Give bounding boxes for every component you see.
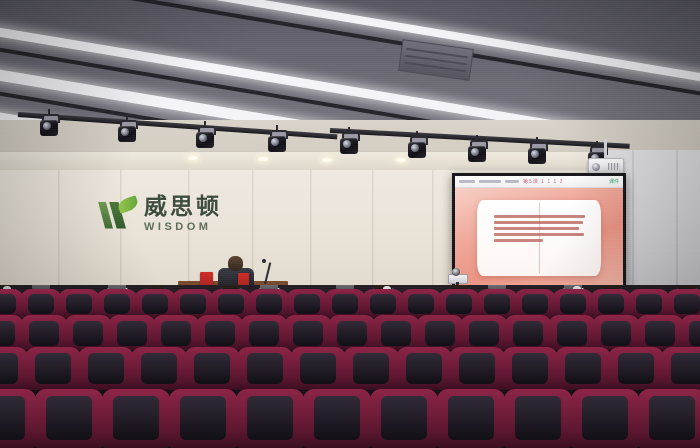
moving-head-light-icon: [468, 140, 486, 164]
moving-head-light-icon: [528, 142, 546, 166]
auditorium-seat: [332, 318, 372, 350]
auditorium-seat: [612, 350, 660, 390]
auditorium-seat: [294, 350, 342, 390]
auditorium-seat: [200, 318, 240, 350]
presenter-head: [228, 256, 243, 271]
slide-body: [455, 188, 623, 288]
auditorium-seat: [288, 318, 328, 350]
slide-toolbar: 第5课 1 1 1 2 课件: [455, 176, 623, 188]
recessed-downlight: [396, 158, 406, 162]
auditorium-seat: [559, 350, 607, 390]
auditorium-seat: [173, 392, 233, 448]
wisdom-logo: 威思顿 WISDOM: [98, 196, 222, 233]
auditorium-seat: [508, 392, 568, 448]
slide-toolbar-right: 课件: [609, 178, 619, 185]
auditorium-seat: [552, 318, 592, 350]
auditorium-seat: [24, 318, 64, 350]
auditorium-seat: [106, 392, 166, 448]
moving-head-light-icon: [340, 132, 358, 156]
moving-head-light-icon: [268, 130, 286, 154]
auditorium-seat: [441, 392, 501, 448]
auditorium-seat: [376, 318, 416, 350]
auditorium-seat: [0, 350, 24, 390]
auditorium-seat: [506, 350, 554, 390]
auditorium-seat: [400, 350, 448, 390]
projection-screen: 第5课 1 1 1 2 课件: [452, 173, 626, 291]
slide-title: 第5课 1 1 1 2: [523, 178, 563, 185]
moving-head-light-icon: [118, 120, 136, 144]
auditorium-seat: [68, 318, 108, 350]
auditorium-seat: [188, 350, 236, 390]
slide-text-line: [494, 239, 543, 242]
microphone-head-icon: [262, 259, 266, 263]
auditorium-seat: [0, 318, 20, 350]
auditorium-seat: [307, 392, 367, 448]
auditorium-seat: [420, 318, 460, 350]
auditorium-seat: [665, 350, 700, 390]
auditorium-seat: [39, 392, 99, 448]
auditorium-seat: [642, 392, 700, 448]
auditorium-seat: [135, 350, 183, 390]
slide-text-line: [494, 221, 583, 224]
auditorium-seat: [156, 318, 196, 350]
slide-text-block: [494, 215, 589, 242]
auditorium-seat: [244, 318, 284, 350]
slide-text-line: [494, 227, 579, 230]
moving-head-light-icon: [408, 136, 426, 160]
auditorium-seat: [82, 350, 130, 390]
moving-head-light-icon: [40, 114, 58, 138]
auditorium-seat: [29, 350, 77, 390]
recessed-downlight: [258, 157, 268, 161]
ceiling-air-vent: [398, 39, 474, 81]
open-book-graphic: [477, 200, 601, 276]
logo-chinese-text: 威思顿: [144, 196, 222, 219]
auditorium-seat: [374, 392, 434, 448]
wisdom-w-leaf-logo: [98, 198, 138, 232]
auditorium-seat: [240, 392, 300, 448]
slide-text-line: [494, 215, 585, 218]
auditorium-seat: [508, 318, 548, 350]
auditorium-seat: [596, 318, 636, 350]
conference-hall-photo: 威思顿 WISDOM 第5课 1 1 1 2 课件: [0, 0, 700, 448]
auditorium-seat: [575, 392, 635, 448]
screen-surface: 第5课 1 1 1 2 课件: [455, 176, 623, 288]
slide-text-line: [494, 233, 584, 236]
auditorium-seat: [684, 318, 700, 350]
auditorium-seat: [640, 318, 680, 350]
projector-mount-pole: [604, 138, 607, 158]
auditorium-seat: [112, 318, 152, 350]
auditorium-seat: [453, 350, 501, 390]
auditorium-seat: [0, 392, 32, 448]
auditorium-seat: [464, 318, 504, 350]
moving-head-light-icon: [196, 126, 214, 150]
auditorium-seat: [347, 350, 395, 390]
seated-audience: [0, 285, 700, 448]
recessed-downlight: [188, 156, 198, 160]
auditorium-seat: [241, 350, 289, 390]
recessed-downlight: [322, 158, 332, 162]
camera-lens-icon: [452, 268, 460, 276]
logo-english-text: WISDOM: [144, 222, 222, 233]
